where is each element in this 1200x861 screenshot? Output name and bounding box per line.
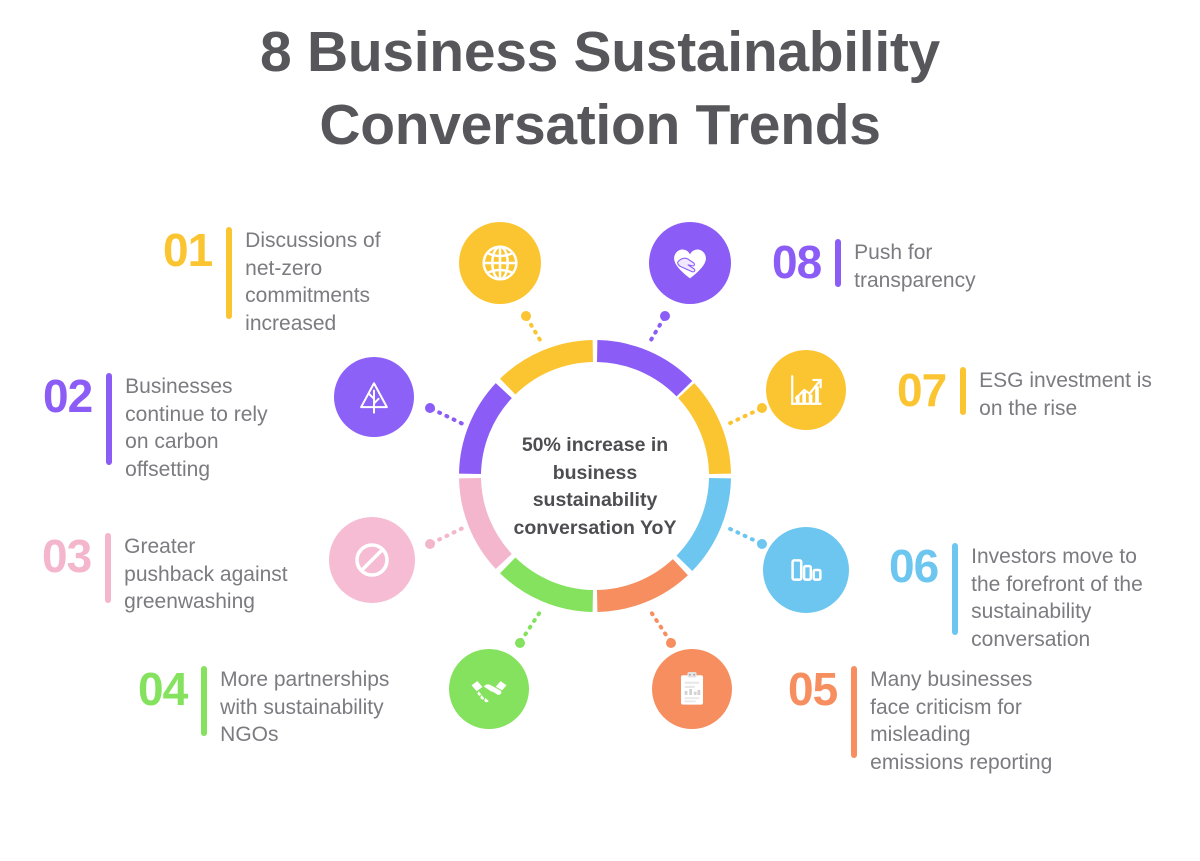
trend-item-06[interactable]: 06 Investors move to the forefront of th…: [889, 543, 1143, 654]
trend-number-08: 08: [772, 239, 821, 285]
trend-text-03: Greater pushback against greenwashing: [124, 533, 287, 616]
icon-bubble-06[interactable]: [763, 527, 849, 613]
trend-bar-06: [952, 543, 958, 635]
trend-bar-07: [960, 367, 966, 415]
heart-hand-icon: [667, 240, 713, 286]
trend-bar-03: [105, 533, 111, 603]
donut-segment-05: [597, 567, 680, 601]
trend-number-07: 07: [897, 367, 946, 413]
icon-bubble-03[interactable]: [329, 517, 415, 603]
icon-bubble-05[interactable]: [652, 649, 732, 729]
trend-item-01[interactable]: 01 Discussions of net-zero commitments i…: [163, 227, 381, 338]
pine-tree-icon: [352, 375, 396, 419]
donut-segment-04: [508, 565, 593, 601]
trend-item-02[interactable]: 02 Businesses continue to rely on carbon…: [43, 373, 268, 484]
trend-item-08[interactable]: 08 Push for transparency: [772, 239, 976, 294]
icon-bubble-01[interactable]: [459, 222, 541, 304]
trend-number-02: 02: [43, 373, 92, 419]
trend-item-04[interactable]: 04 More partnerships with sustainability…: [138, 666, 389, 749]
trend-text-01: Discussions of net-zero commitments incr…: [245, 227, 380, 338]
trend-text-05: Many businesses face criticism for misle…: [870, 666, 1052, 777]
trend-number-03: 03: [42, 533, 91, 579]
trend-text-02: Businesses continue to rely on carbon of…: [125, 373, 267, 484]
trend-bar-05: [851, 666, 857, 758]
bar-chart-icon: [783, 547, 829, 593]
trend-number-06: 06: [889, 543, 938, 589]
trend-item-03[interactable]: 03 Greater pushback against greenwashing: [42, 533, 288, 616]
trend-text-04: More partnerships with sustainability NG…: [220, 666, 389, 749]
prohibition-icon: [348, 536, 396, 584]
trend-bar-02: [106, 373, 112, 465]
icon-bubble-02[interactable]: [334, 357, 414, 437]
donut-segment-01: [508, 351, 593, 387]
trend-number-05: 05: [788, 666, 837, 712]
donut-segment-08: [597, 351, 684, 389]
trend-item-07[interactable]: 07 ESG investment is on the rise: [897, 367, 1152, 422]
trend-item-05[interactable]: 05 Many businesses face criticism for mi…: [788, 666, 1052, 777]
trend-text-06: Investors move to the forefront of the s…: [971, 543, 1143, 654]
trend-number-01: 01: [163, 227, 212, 273]
trend-bar-04: [201, 666, 207, 736]
icon-bubble-04[interactable]: [449, 649, 529, 729]
trend-number-04: 04: [138, 666, 187, 712]
trend-text-08: Push for transparency: [854, 239, 975, 294]
handshake-icon: [466, 666, 512, 712]
clipboard-report-icon: [670, 667, 714, 711]
trend-bar-08: [835, 239, 841, 287]
icon-bubble-08[interactable]: [649, 222, 731, 304]
donut-center-label: 50% increase in business sustainability …: [495, 432, 695, 543]
infographic-canvas: 8 Business Sustainability Conversation T…: [0, 0, 1200, 861]
trend-text-07: ESG investment is on the rise: [979, 367, 1152, 422]
trend-bar-01: [226, 227, 232, 319]
icon-bubble-07[interactable]: [766, 350, 846, 430]
growth-chart-icon: [784, 368, 828, 412]
globe-icon: [477, 240, 523, 286]
